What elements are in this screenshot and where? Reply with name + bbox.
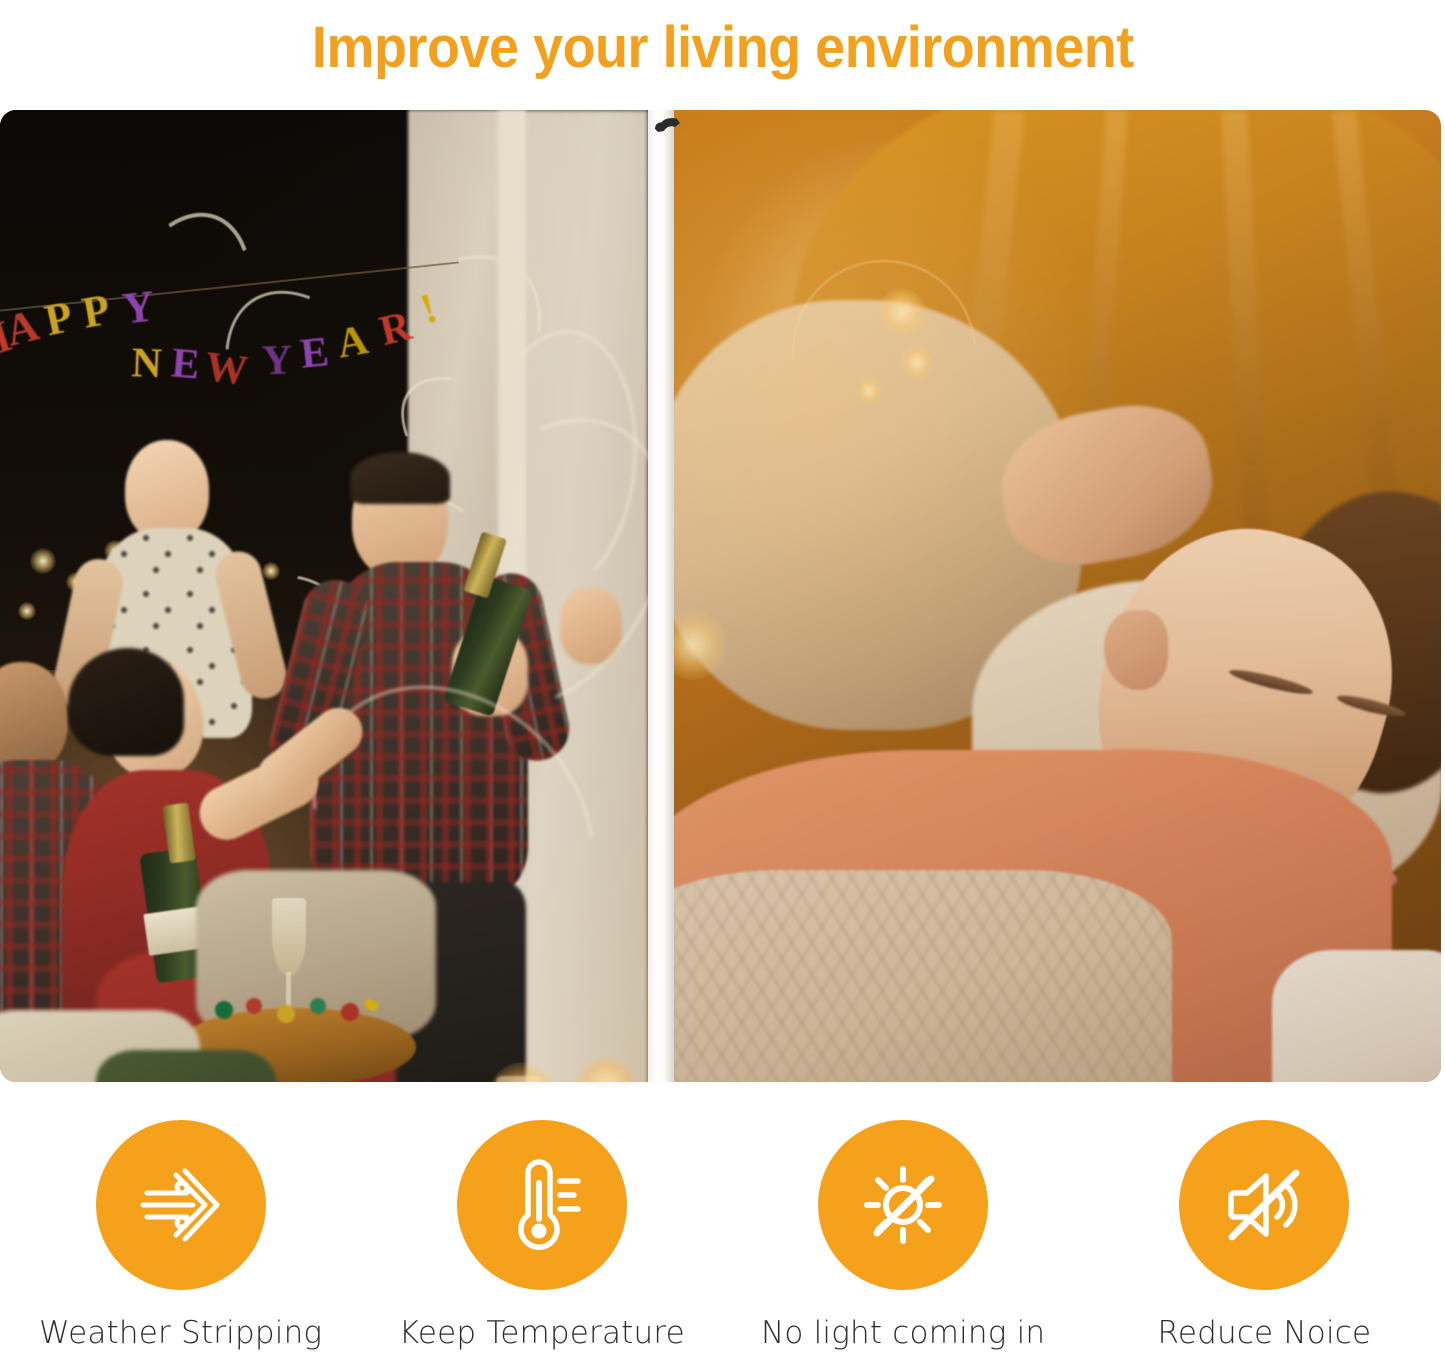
feature-icon-circle (1179, 1120, 1349, 1290)
green-blanket (96, 1050, 276, 1082)
bokeh-light (18, 602, 36, 620)
white-sleeve (1272, 950, 1441, 1082)
child-ear (1104, 610, 1168, 690)
bokeh-light (262, 562, 280, 580)
sleeping-child-photo (672, 110, 1441, 1082)
feature-keep-temperature[interactable]: Keep Temperature (361, 1120, 722, 1371)
hero-image-pair: H A P P Y N E W Y E A R ! (0, 110, 1441, 1082)
feature-row: Weather Stripping Keep Temperature (0, 1120, 1445, 1371)
feature-no-light[interactable]: No light coming in (723, 1120, 1084, 1371)
feature-label: Reduce Noice (1157, 1316, 1371, 1350)
champagne-flute (272, 898, 306, 976)
fairy-light (900, 346, 934, 380)
headline-bar: Improve your living environment (0, 0, 1445, 96)
no-light-sun-slash-icon (851, 1153, 955, 1257)
new-year-party-photo: H A P P Y N E W Y E A R ! (0, 110, 648, 1082)
wind-airflow-icon (129, 1153, 233, 1257)
fairy-light (878, 288, 926, 336)
bokeh-light (30, 548, 56, 574)
candy-pile (206, 994, 386, 1034)
thermometer-icon (490, 1153, 594, 1257)
feature-icon-circle (96, 1120, 266, 1290)
feature-icon-circle (457, 1120, 627, 1290)
feature-label: No light coming in (761, 1316, 1045, 1350)
fairy-light (856, 378, 882, 404)
candle-jar (496, 1076, 542, 1082)
feature-weather-stripping[interactable]: Weather Stripping (0, 1120, 361, 1371)
door-weather-strip-divider (648, 110, 674, 1082)
knit-blanket (672, 870, 1172, 1082)
feature-icon-circle (818, 1120, 988, 1290)
rubber-seal-icon (651, 112, 685, 146)
speaker-mute-slash-icon (1212, 1153, 1316, 1257)
page-title: Improve your living environment (312, 19, 1134, 77)
feature-label: Keep Temperature (399, 1316, 685, 1350)
feature-reduce-noise[interactable]: Reduce Noice (1084, 1120, 1445, 1371)
feature-label: Weather Stripping (39, 1316, 322, 1350)
